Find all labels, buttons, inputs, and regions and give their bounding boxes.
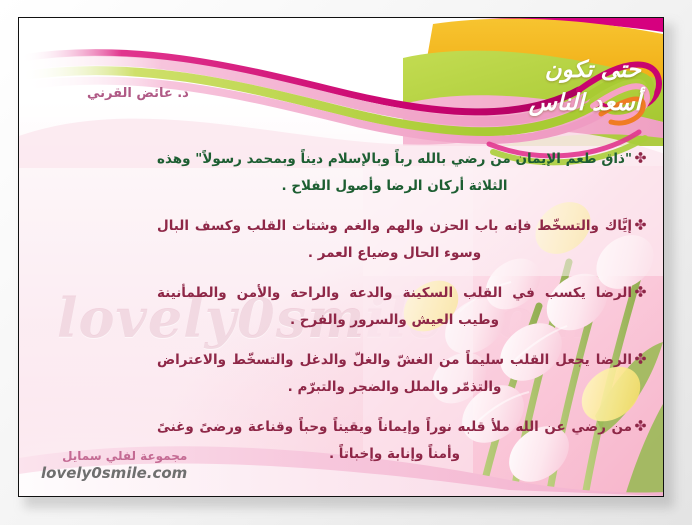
footer: مجموعة لفلي سمايل lovely0smile.com — [41, 449, 187, 482]
author-name: د. عائض القرني — [87, 86, 189, 101]
card-title: حتى تكون أسعد الناس — [529, 54, 641, 120]
quote-text: الرضا يكسب في القلب السكينة والدعة والرا… — [157, 280, 632, 334]
floret-bullet-icon — [632, 353, 649, 364]
list-item: "ذاق طعم الإيمان من رضي بالله رباً وبالإ… — [157, 146, 649, 200]
floret-bullet-icon — [632, 152, 649, 163]
list-item: إيَّاك والتسخّط فإنه باب الحزن والهم وال… — [157, 213, 649, 267]
list-item: الرضا يكسب في القلب السكينة والدعة والرا… — [157, 280, 649, 334]
quote-text: الرضا يجعل القلب سليماً من الغشّ والغلّ … — [157, 347, 632, 401]
floret-bullet-icon — [632, 420, 649, 431]
quote-text: "ذاق طعم الإيمان من رضي بالله رباً وبالإ… — [157, 146, 632, 200]
footer-arabic-label: مجموعة لفلي سمايل — [41, 449, 187, 463]
quote-text: إيَّاك والتسخّط فإنه باب الحزن والهم وال… — [157, 213, 632, 267]
list-item: الرضا يجعل القلب سليماً من الغشّ والغلّ … — [157, 347, 649, 401]
list-item: من رضي عن الله ملأ قلبه نوراً وإيماناً و… — [157, 414, 649, 468]
title-line-1: حتى تكون — [529, 54, 641, 87]
quote-list: "ذاق طعم الإيمان من رضي بالله رباً وبالإ… — [157, 146, 649, 481]
floret-bullet-icon — [632, 219, 649, 230]
quote-card: lovely0smile.com — [18, 17, 664, 497]
page-canvas: lovely0smile.com — [0, 0, 692, 525]
quote-text: من رضي عن الله ملأ قلبه نوراً وإيماناً و… — [157, 414, 632, 468]
floret-bullet-icon — [632, 286, 649, 297]
title-line-2: أسعد الناس — [529, 87, 641, 120]
footer-url: lovely0smile.com — [41, 464, 187, 482]
